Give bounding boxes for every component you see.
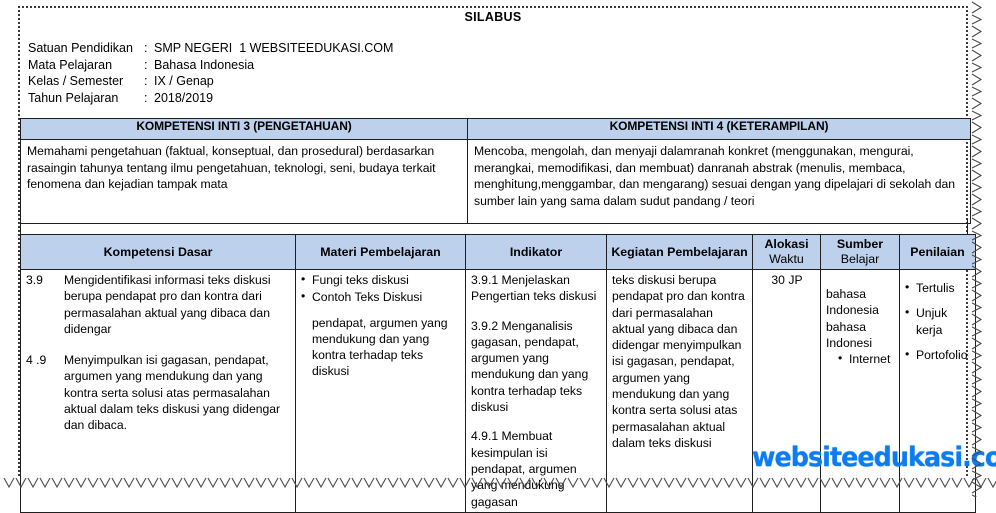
identity-value: SMP NEGERI 1 WEBSITEEDUKASI.COM [154, 40, 393, 57]
list-item: Contoh Teks Diskusi [301, 289, 461, 305]
kd-entry-4-9: 4 .9 Menyimpulkan isi gagasan, pendapat,… [26, 352, 291, 433]
table-header-row: Kompetensi Dasar Materi Pembelajaran Ind… [21, 235, 976, 270]
kegiatan-text: teks diskusi berupa pendapat pro dan kon… [612, 272, 748, 451]
identity-label: Mata Pelajaran [28, 57, 144, 74]
list-item: Portofolio [905, 347, 971, 363]
identity-separator: : [144, 57, 154, 74]
identity-block: Satuan Pendidikan : SMP NEGERI 1 WEBSITE… [28, 40, 393, 106]
table-spacer [20, 219, 968, 234]
identity-value: IX / Genap [154, 73, 214, 90]
column-header-kompetensi-dasar: Kompetensi Dasar [21, 235, 296, 270]
column-header-alokasi-waktu: Alokasi Waktu [753, 235, 821, 270]
identity-label: Satuan Pendidikan [28, 40, 144, 57]
list-item: Internet [838, 351, 895, 367]
identity-separator: : [144, 40, 154, 57]
indikator-item-3-9-2: 3.9.2 Menganalisis gagasan, pendapat, ar… [471, 318, 602, 416]
kompetensi-inti-body-row: Memahami pengetahuan (faktual, konseptua… [21, 140, 971, 224]
column-header-sumber-belajar: Sumber Belajar [821, 235, 900, 270]
list-item: Fungi teks diskusi [301, 272, 461, 288]
kompetensi-inti-table: KOMPETENSI INTI 3 (PENGETAHUAN) KOMPETEN… [20, 118, 971, 224]
alokasi-sub-label: Waktu [753, 252, 820, 267]
column-header-penilaian: Penilaian [900, 235, 976, 270]
kd-number: 4 .9 [26, 352, 64, 433]
list-item: Unjuk kerja [905, 305, 971, 338]
page-title: SILABUS [20, 10, 966, 24]
penilaian-bullet-list: Tertulis Unjuk kerja Portofolio [905, 280, 971, 363]
sumber-main-label: Sumber [837, 237, 883, 251]
kd-number: 3.9 [26, 272, 64, 337]
kd-spacer [26, 339, 291, 352]
torn-edge-bottom [0, 471, 996, 497]
ki3-body: Memahami pengetahuan (faktual, konseptua… [21, 140, 468, 224]
identity-value: 2018/2019 [154, 90, 213, 107]
kd-entry-3-9: 3.9 Mengidentifikasi informasi teks disk… [26, 272, 291, 337]
sumber-belajar-text: bahasa Indonesia bahasa Indonesi [826, 286, 895, 351]
torn-edge-right [966, 0, 996, 497]
sumber-belajar-bullet-list: Internet [838, 351, 895, 367]
document-page: SILABUS Satuan Pendidikan : SMP NEGERI 1… [0, 0, 996, 497]
indikator-item-4-9-1: 4.9.1 Membuat kesimpulan isi pendapat, a… [471, 428, 602, 509]
alokasi-waktu-value: 30 JP [758, 272, 816, 288]
watermark-websiteedukasi: websiteedukasi.com [752, 442, 996, 473]
identity-row-kelas-semester: Kelas / Semester : IX / Genap [28, 73, 393, 90]
identity-label: Tahun Pelajaran [28, 90, 144, 107]
kd-text: Menyimpulkan isi gagasan, pendapat, argu… [64, 352, 291, 433]
identity-separator: : [144, 90, 154, 107]
materi-paragraph: pendapat, argumen yang mendukung dan yan… [312, 315, 461, 380]
identity-value: Bahasa Indonesia [154, 57, 254, 74]
identity-separator: : [144, 73, 154, 90]
ki3-heading: KOMPETENSI INTI 3 (PENGETAHUAN) [21, 119, 468, 140]
identity-label: Kelas / Semester [28, 73, 144, 90]
alokasi-main-label: Alokasi [764, 237, 808, 251]
identity-row-mata-pelajaran: Mata Pelajaran : Bahasa Indonesia [28, 57, 393, 74]
indikator-item-3-9-1: 3.9.1 Menjelaskan Pengertian teks diskus… [471, 272, 602, 305]
ki4-heading: KOMPETENSI INTI 4 (KETERAMPILAN) [468, 119, 971, 140]
sumber-sub-label: Belajar [821, 252, 899, 267]
column-header-indikator: Indikator [466, 235, 607, 270]
list-item: Tertulis [905, 280, 971, 296]
ki4-body: Mencoba, mengolah, dan menyaji dalamrana… [468, 140, 971, 224]
kd-text: Mengidentifikasi informasi teks diskusi … [64, 272, 291, 337]
column-header-kegiatan-pembelajaran: Kegiatan Pembelajaran [607, 235, 753, 270]
identity-row-satuan-pendidikan: Satuan Pendidikan : SMP NEGERI 1 WEBSITE… [28, 40, 393, 57]
identity-row-tahun-pelajaran: Tahun Pelajaran : 2018/2019 [28, 90, 393, 107]
materi-bullet-list: Fungi teks diskusi Contoh Teks Diskusi [301, 272, 461, 306]
column-header-materi-pembelajaran: Materi Pembelajaran [296, 235, 466, 270]
kompetensi-inti-header-row: KOMPETENSI INTI 3 (PENGETAHUAN) KOMPETEN… [21, 119, 971, 140]
